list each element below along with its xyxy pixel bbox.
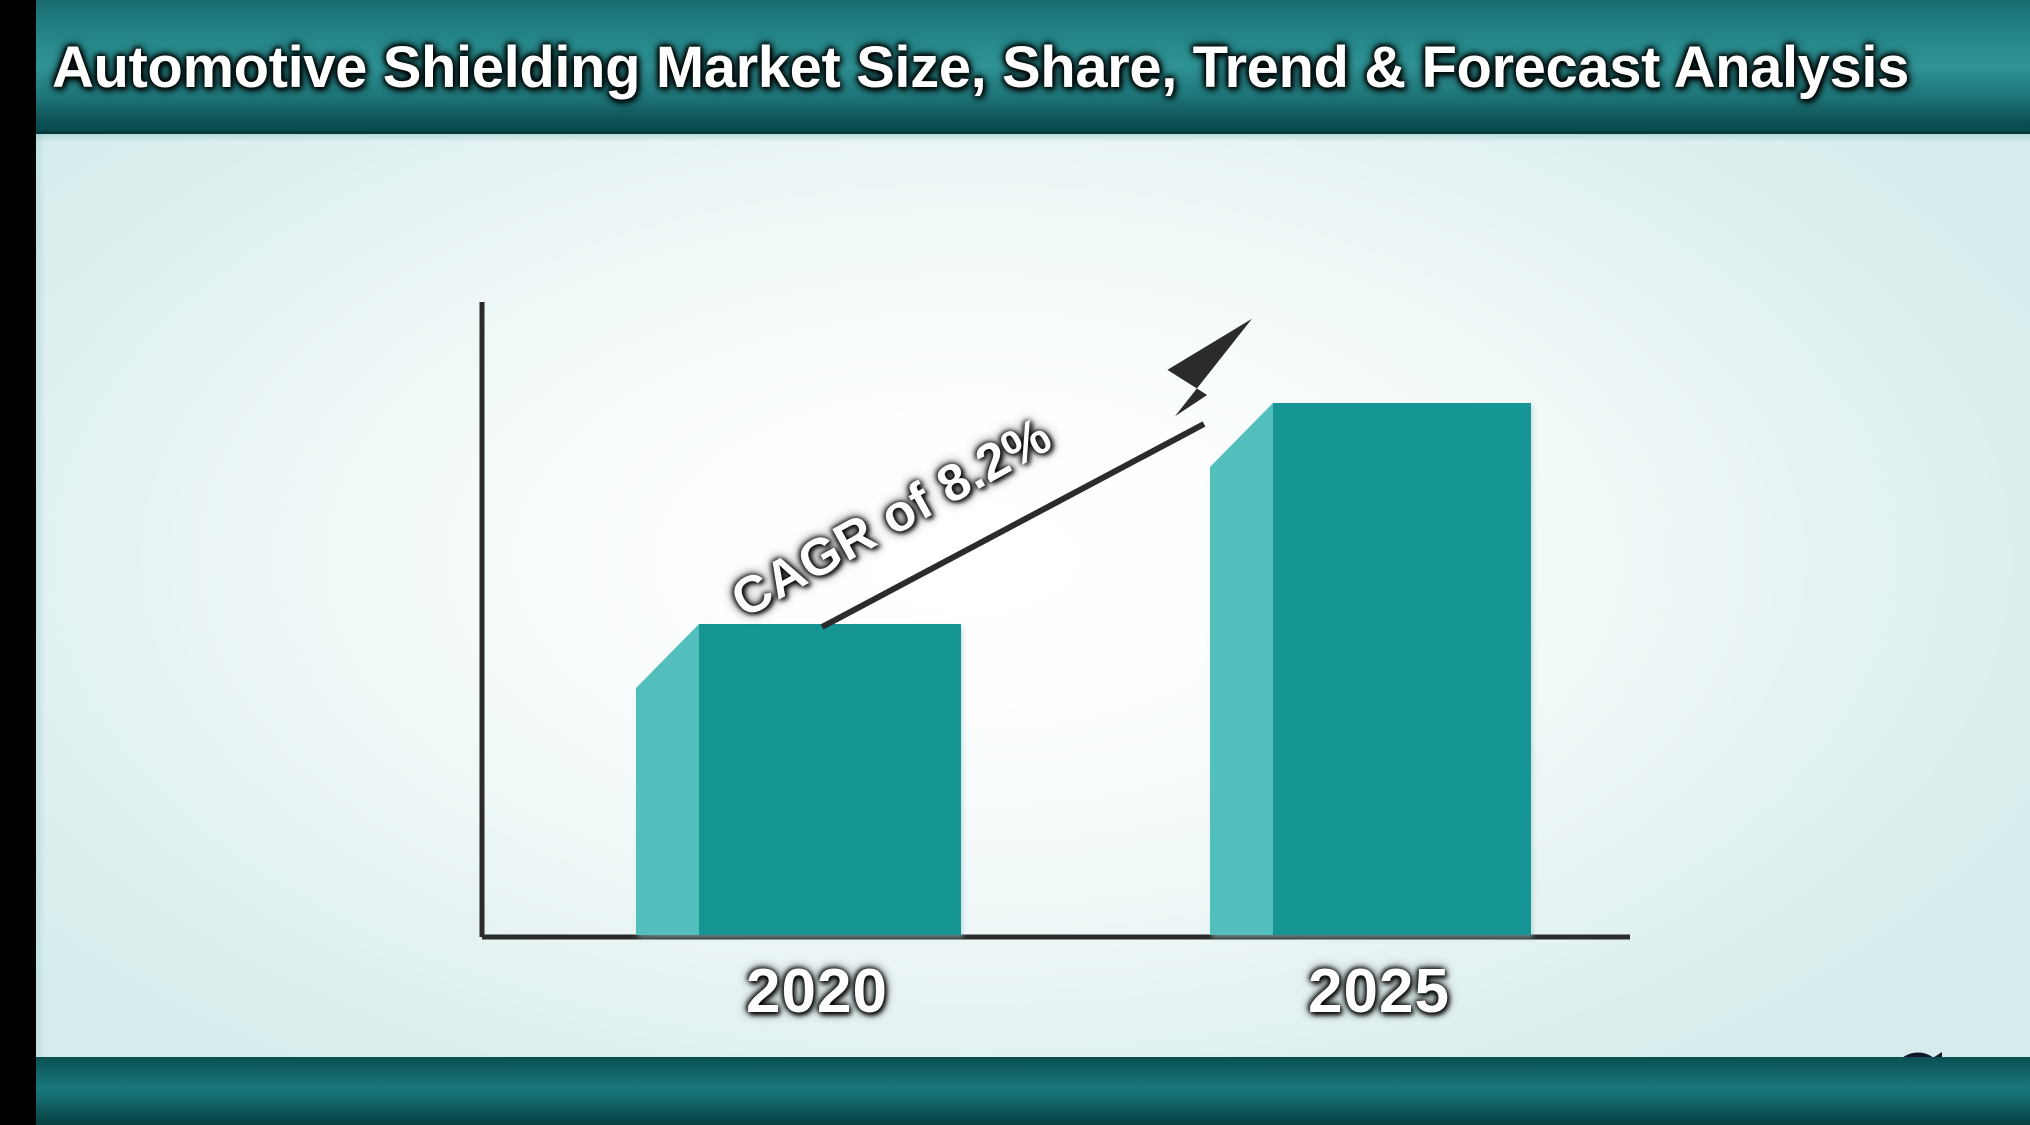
- magnifier-growth-chart-icon: [1884, 1046, 1956, 1057]
- infographic-frame: Automotive Shielding Market Size, Share,…: [36, 0, 2030, 1125]
- bar-2025: [1210, 403, 1531, 935]
- bar-2025-side-face: [1210, 403, 1273, 935]
- footer-band: [36, 1057, 2030, 1125]
- infographic-root: Automotive Shielding Market Size, Share,…: [0, 0, 2030, 1125]
- bar-chart-graphic: [36, 134, 2030, 1057]
- page-title: Automotive Shielding Market Size, Share,…: [36, 0, 2030, 134]
- bar-2025-front-face: [1273, 403, 1531, 935]
- chart-panel: CAGR of 8.2% 2020 2025: [36, 134, 2030, 1057]
- bar-2020: [636, 624, 961, 935]
- bar-2020-front-face: [699, 624, 961, 935]
- x-axis-label-2025: 2025: [1308, 956, 1450, 1027]
- x-axis-label-2020: 2020: [746, 956, 888, 1027]
- bar-2020-side-face: [636, 624, 699, 935]
- growth-arrow-head: [1153, 297, 1252, 429]
- brand-logo[interactable]: Stratview TM Research Strategic Insights…: [1748, 1046, 1998, 1057]
